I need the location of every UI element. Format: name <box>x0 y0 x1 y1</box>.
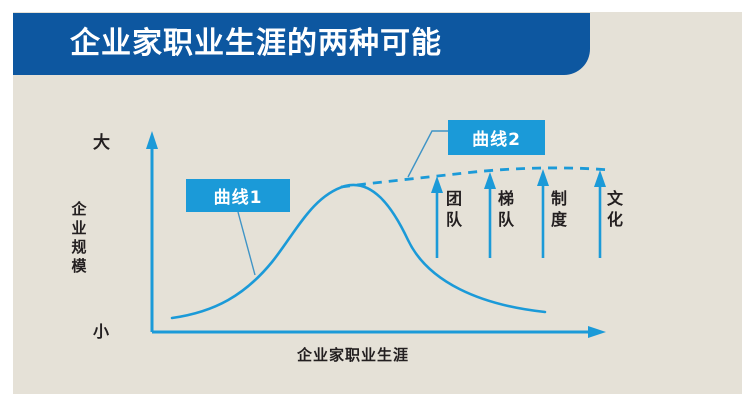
arrow-label-system: 制度 <box>549 188 569 230</box>
y-axis <box>146 131 158 332</box>
up-arrow-3 <box>537 169 549 258</box>
x-axis-title: 企业家职业生涯 <box>297 344 409 365</box>
curve-2-dashed <box>341 168 610 187</box>
callout-curve-2[interactable]: 曲线2 <box>448 120 545 155</box>
y-axis-title: 企业规模 <box>68 200 90 276</box>
up-arrow-2 <box>484 172 496 258</box>
callout-curve2-leader <box>408 131 448 177</box>
callout-curve-1[interactable]: 曲线1 <box>186 179 290 212</box>
y-axis-top-label: 大 <box>93 128 110 153</box>
arrow-label-culture: 文化 <box>605 188 625 230</box>
arrow-label-team: 团队 <box>444 188 464 230</box>
y-axis-bottom-label: 小 <box>93 318 109 342</box>
x-axis <box>152 326 606 338</box>
arrow-label-echelon: 梯队 <box>496 188 516 230</box>
slide-canvas: 企业家职业生涯的两种可能 <box>0 0 756 406</box>
callout-curve1-leader <box>238 212 255 275</box>
up-arrow-1 <box>431 176 443 258</box>
